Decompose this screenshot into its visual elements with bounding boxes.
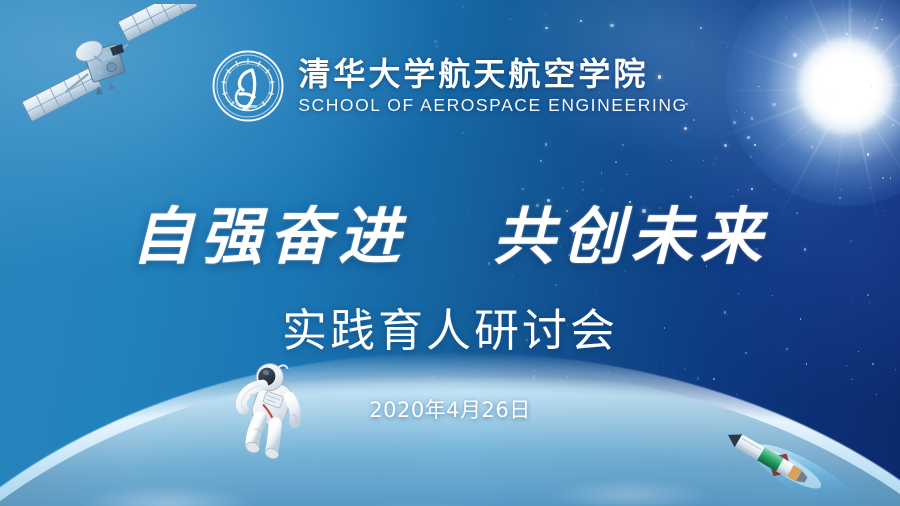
star-sparkle	[540, 160, 542, 162]
subtitle-text: 实践育人研讨会	[282, 304, 618, 357]
star-dot	[436, 45, 438, 47]
star-dot	[663, 360, 664, 361]
star-sparkle	[545, 143, 548, 146]
star-sparkle	[580, 20, 582, 22]
rocket-icon	[700, 412, 900, 506]
school-name-chinese: 清华大学航天航空学院	[298, 58, 648, 90]
star-dot	[545, 14, 546, 15]
slogan-text: 自强奋进 共创未来	[131, 200, 769, 273]
star-dot	[614, 135, 615, 136]
star-dot	[846, 365, 847, 366]
star-dot	[713, 378, 715, 380]
star-dot	[533, 376, 535, 378]
school-name-english: SCHOOL OF AEROSPACE ENGINEERING	[298, 97, 687, 115]
star-dot	[806, 363, 807, 364]
star-sparkle	[545, 27, 548, 30]
star-dot	[509, 18, 511, 20]
star-dot	[462, 6, 464, 8]
star-dot	[479, 125, 480, 126]
star-dot	[872, 363, 874, 365]
star-dot	[566, 376, 569, 379]
star-dot	[575, 286, 576, 287]
star-dot	[610, 7, 612, 9]
star-dot	[547, 390, 550, 393]
star-dot	[498, 378, 499, 379]
star-dot	[601, 172, 603, 174]
star-sparkle	[610, 24, 614, 28]
slide-date: 2020年4月26日	[0, 394, 900, 424]
star-dot	[852, 281, 853, 282]
tsinghua-aerospace-emblem-icon	[212, 50, 284, 122]
star-dot	[895, 369, 896, 370]
title-slide: 清华大学航天航空学院 SCHOOL OF AEROSPACE ENGINEERI…	[0, 0, 900, 506]
star-dot	[671, 368, 673, 370]
star-dot	[613, 382, 614, 383]
star-dot	[626, 174, 628, 176]
star-dot	[582, 181, 584, 183]
star-dot	[658, 391, 659, 392]
star-dot	[432, 375, 434, 377]
star-sparkle	[684, 127, 687, 130]
star-dot	[434, 40, 437, 43]
star-dot	[445, 277, 446, 278]
star-dot	[671, 160, 672, 161]
star-dot	[534, 370, 536, 372]
slide-slogan: 自强奋进 共创未来	[0, 186, 900, 276]
star-dot	[462, 132, 464, 134]
star-dot	[629, 25, 630, 26]
star-dot	[684, 368, 686, 370]
date-text: 2020年4月26日	[369, 398, 531, 422]
slide-subtitle: 实践育人研讨会	[0, 294, 900, 359]
header-text-block: 清华大学航天航空学院 SCHOOL OF AEROSPACE ENGINEERI…	[298, 58, 687, 115]
star-dot	[851, 379, 852, 380]
star-dot	[622, 144, 624, 146]
star-dot	[805, 290, 806, 291]
star-dot	[697, 377, 699, 379]
star-dot	[527, 285, 528, 286]
header-lockup: 清华大学航天航空学院 SCHOOL OF AEROSPACE ENGINEERI…	[0, 50, 900, 122]
star-dot	[762, 287, 764, 289]
star-dot	[608, 372, 609, 373]
star-dot	[437, 47, 438, 48]
star-dot	[555, 284, 557, 286]
star-dot	[615, 161, 616, 162]
star-dot	[692, 44, 693, 45]
